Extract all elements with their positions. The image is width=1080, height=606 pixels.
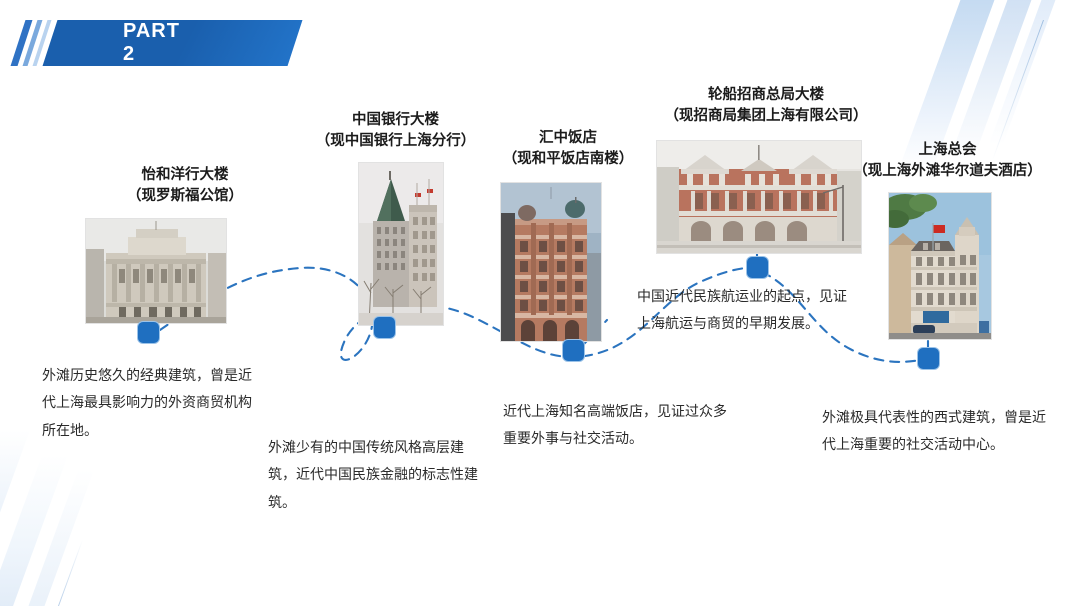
building-title-3-line2: （现和平饭店南楼） — [468, 149, 668, 170]
building-title-3-line1: 汇中饭店 — [539, 130, 597, 146]
building-title-5-line1: 上海总会 — [919, 142, 977, 158]
building-description-5: 外滩极具代表性的西式建筑，曾是近代上海重要的社交活动中心。 — [822, 404, 1050, 459]
building-photo-3 — [500, 182, 602, 342]
building-photo-2 — [358, 162, 444, 326]
building-photo-5 — [888, 192, 992, 340]
route-node-5[interactable] — [918, 348, 939, 369]
building-title-4: 轮船招商总局大楼 （现招商局集团上海有限公司） — [636, 85, 896, 127]
building-title-5: 上海总会 （现上海外滩华尔道夫酒店） — [840, 140, 1055, 182]
building-title-3: 汇中饭店 （现和平饭店南楼） — [468, 128, 668, 170]
building-title-4-line2: （现招商局集团上海有限公司） — [636, 106, 896, 127]
building-photo-4 — [656, 140, 862, 254]
building-description-2: 外滩少有的中国传统风格高层建筑，近代中国民族金融的标志性建筑。 — [268, 434, 486, 516]
slide-canvas: PART 2 怡和洋行大楼 （现罗斯福公馆） — [0, 0, 1080, 606]
route-node-1[interactable] — [138, 322, 159, 343]
building-title-1: 怡和洋行大楼 （现罗斯福公馆） — [70, 165, 300, 207]
route-node-4[interactable] — [747, 257, 768, 278]
building-description-4: 中国近代民族航运业的起点，见证上海航运与商贸的早期发展。 — [637, 283, 859, 338]
building-title-1-line2: （现罗斯福公馆） — [70, 186, 300, 207]
building-description-1: 外滩历史悠久的经典建筑，曾是近代上海最具影响力的外资商贸机构所在地。 — [42, 362, 257, 444]
route-node-2[interactable] — [374, 317, 395, 338]
building-photo-1 — [85, 218, 227, 324]
building-title-1-line1: 怡和洋行大楼 — [142, 167, 229, 183]
building-title-4-line1: 轮船招商总局大楼 — [708, 87, 824, 103]
building-title-2-line1: 中国银行大楼 — [352, 112, 439, 128]
route-node-3[interactable] — [563, 340, 584, 361]
building-description-3: 近代上海知名高端饭店，见证过众多重要外事与社交活动。 — [503, 398, 733, 453]
building-title-5-line2: （现上海外滩华尔道夫酒店） — [840, 161, 1055, 182]
